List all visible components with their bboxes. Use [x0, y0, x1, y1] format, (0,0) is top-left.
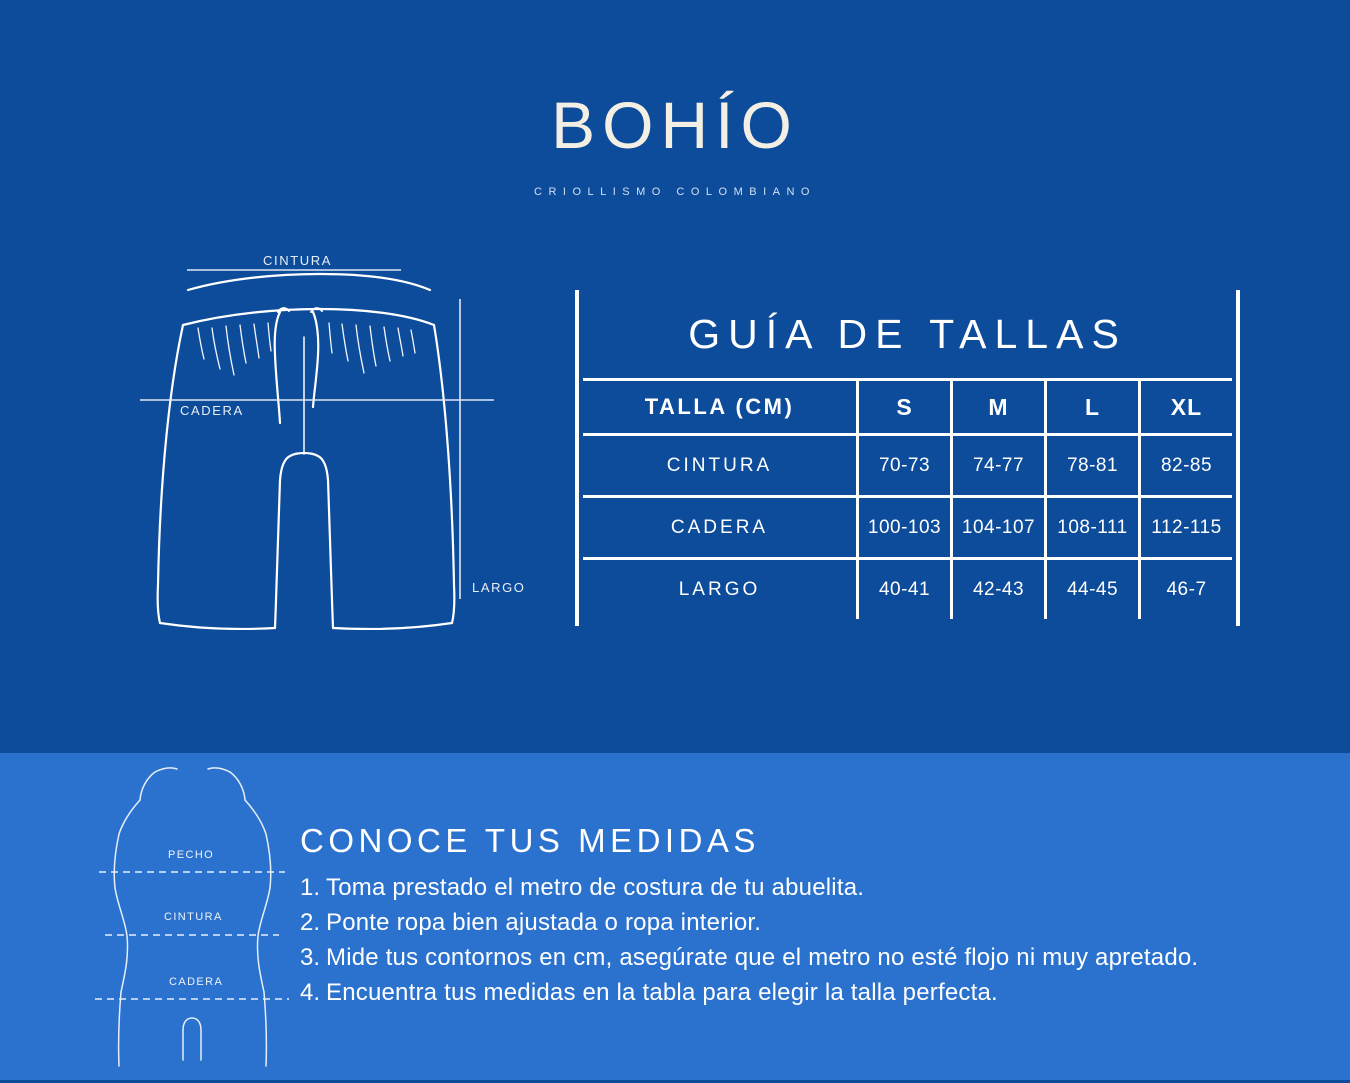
- largo-dimension-line: [457, 297, 463, 602]
- table-header-measure: TALLA (CM): [583, 381, 856, 433]
- cell-largo-xl: 46-7: [1138, 560, 1232, 619]
- brand-name: BOHÍO: [0, 92, 1350, 158]
- step-text: Ponte ropa bien ajustada o ropa interior…: [326, 905, 761, 940]
- measure-step: 2. Ponte ropa bien ajustada o ropa inter…: [300, 905, 1310, 940]
- table-row: LARGO 40-41 42-43 44-45 46-7: [583, 557, 1232, 619]
- cell-largo-m: 42-43: [950, 560, 1044, 619]
- step-number: 1.: [300, 870, 326, 905]
- step-number: 3.: [300, 940, 326, 975]
- table-row: CINTURA 70-73 74-77 78-81 82-85: [583, 433, 1232, 495]
- measures-instructions: CONOCE TUS MEDIDAS 1. Toma prestado el m…: [300, 822, 1310, 1010]
- brand-tagline: CRIOLLISMO COLOMBIANO: [0, 186, 1350, 198]
- measure-step: 3. Mide tus contornos en cm, asegúrate q…: [300, 940, 1310, 975]
- measure-step: 1. Toma prestado el metro de costura de …: [300, 870, 1310, 905]
- measure-step: 4. Encuentra tus medidas en la tabla par…: [300, 975, 1310, 1010]
- shorts-label-cintura: CINTURA: [263, 253, 332, 268]
- shorts-diagram: [130, 245, 550, 630]
- step-text: Encuentra tus medidas en la tabla para e…: [326, 975, 998, 1010]
- table-row: CADERA 100-103 104-107 108-111 112-115: [583, 495, 1232, 557]
- size-table-grid: TALLA (CM) S M L XL CINTURA 70-73 74-77 …: [583, 378, 1232, 626]
- cell-largo-s: 40-41: [856, 560, 950, 619]
- shorts-label-cadera: CADERA: [180, 403, 244, 418]
- size-table-title: GUÍA DE TALLAS: [575, 290, 1240, 378]
- step-number: 2.: [300, 905, 326, 940]
- table-header-size-s: S: [856, 381, 950, 433]
- step-text: Toma prestado el metro de costura de tu …: [326, 870, 864, 905]
- cell-cadera-l: 108-111: [1044, 498, 1138, 557]
- cell-cintura-l: 78-81: [1044, 436, 1138, 495]
- table-header-size-l: L: [1044, 381, 1138, 433]
- brand-block: BOHÍO CRIOLLISMO COLOMBIANO: [0, 92, 1350, 198]
- cell-cadera-m: 104-107: [950, 498, 1044, 557]
- shorts-illustration-svg: [130, 245, 550, 630]
- size-guide-table: GUÍA DE TALLAS TALLA (CM) S M L XL CINTU…: [575, 290, 1240, 626]
- step-number: 4.: [300, 975, 326, 1010]
- table-header-size-m: M: [950, 381, 1044, 433]
- cell-cintura-m: 74-77: [950, 436, 1044, 495]
- cell-cadera-xl: 112-115: [1138, 498, 1232, 557]
- row-label-cadera: CADERA: [583, 498, 856, 557]
- cell-cadera-s: 100-103: [856, 498, 950, 557]
- table-header-row: TALLA (CM) S M L XL: [583, 378, 1232, 433]
- row-label-cintura: CINTURA: [583, 436, 856, 495]
- cell-cintura-xl: 82-85: [1138, 436, 1232, 495]
- measures-heading: CONOCE TUS MEDIDAS: [300, 822, 1310, 860]
- body-label-cintura: CINTURA: [164, 911, 223, 923]
- body-label-cadera: CADERA: [169, 976, 223, 988]
- step-text: Mide tus contornos en cm, asegúrate que …: [326, 940, 1198, 975]
- body-label-pecho: PECHO: [168, 849, 214, 861]
- table-header-size-xl: XL: [1138, 381, 1232, 433]
- cell-cintura-s: 70-73: [856, 436, 950, 495]
- shorts-label-largo: LARGO: [472, 580, 526, 595]
- cell-largo-l: 44-45: [1044, 560, 1138, 619]
- row-label-largo: LARGO: [583, 560, 856, 619]
